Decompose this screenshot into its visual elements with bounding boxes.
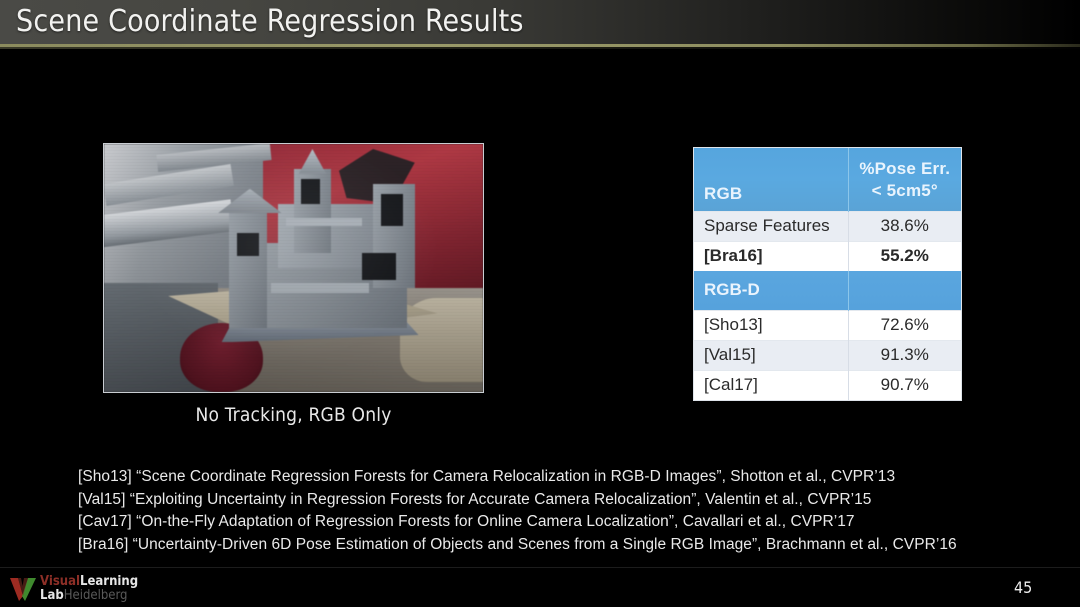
citation-item: [Cav17] “On-the-Fly Adaptation of Regres… (78, 511, 1038, 534)
media-caption: No Tracking, RGB Only (103, 404, 484, 426)
subheader-cell-rgbd: RGB-D (694, 271, 848, 311)
header-cell-pose-err: %Pose Err. < 5cm5° (848, 148, 961, 212)
results-table: RGB %Pose Err. < 5cm5° Sparse Features 3… (693, 147, 962, 401)
table-row: [Sho13] 72.6% (694, 311, 961, 341)
logo-line2-lab: Lab (40, 588, 64, 603)
cell-method: Sparse Features (694, 212, 848, 242)
header-pose-err-line1: %Pose Err. (859, 158, 952, 180)
table-row: [Cal17] 90.7% (694, 371, 961, 401)
citation-item: [Bra16] “Uncertainty-Driven 6D Pose Esti… (78, 534, 1038, 557)
table-subheader-row-rgbd: RGB-D (694, 271, 961, 311)
video-frame-content (104, 144, 483, 392)
cell-method: [Sho13] (694, 311, 848, 341)
title-accent-rule-shadow (0, 47, 1080, 49)
page-number: 45 (1014, 578, 1032, 597)
cell-method: [Cal17] (694, 371, 848, 401)
cell-pose-err: 72.6% (848, 311, 961, 341)
footer-divider (0, 567, 1080, 568)
frame-scanlines (104, 144, 483, 392)
slide-canvas: Scene Coordinate Regression Results (0, 0, 1080, 607)
cell-pose-err: 55.2% (848, 242, 961, 272)
logo-line1-visual: Visual (40, 574, 80, 589)
citation-item: [Val15] “Exploiting Uncertainty in Regre… (78, 489, 1038, 512)
cell-pose-err: 91.3% (848, 341, 961, 371)
slide-title-bar: Scene Coordinate Regression Results (0, 0, 1080, 44)
cell-pose-err: 38.6% (848, 212, 961, 242)
header-pose-err-line2: < 5cm5° (859, 180, 952, 202)
logo-line2-heidelberg: Heidelberg (64, 588, 128, 603)
ar-castle-video-frame (103, 143, 484, 393)
table-row: [Val15] 91.3% (694, 341, 961, 371)
table-row: Sparse Features 38.6% (694, 212, 961, 242)
logo-v-mark-icon (8, 574, 38, 604)
citation-list: [Sho13] “Scene Coordinate Regression For… (78, 466, 1038, 556)
table-header-row: RGB %Pose Err. < 5cm5° (694, 148, 961, 212)
subheader-cell-empty (848, 271, 961, 311)
cell-pose-err: 90.7% (848, 371, 961, 401)
citation-item: [Sho13] “Scene Coordinate Regression For… (78, 466, 1038, 489)
table-row: [Bra16] 55.2% (694, 242, 961, 272)
logo-line1-learning: Learning (80, 574, 138, 589)
visual-learning-lab-logo: VisualLearning LabHeidelberg (8, 572, 138, 605)
logo-wordmark: VisualLearning LabHeidelberg (40, 574, 138, 603)
page-title: Scene Coordinate Regression Results (16, 3, 524, 41)
header-cell-rgb: RGB (694, 148, 848, 212)
cell-method: [Bra16] (694, 242, 848, 272)
cell-method: [Val15] (694, 341, 848, 371)
